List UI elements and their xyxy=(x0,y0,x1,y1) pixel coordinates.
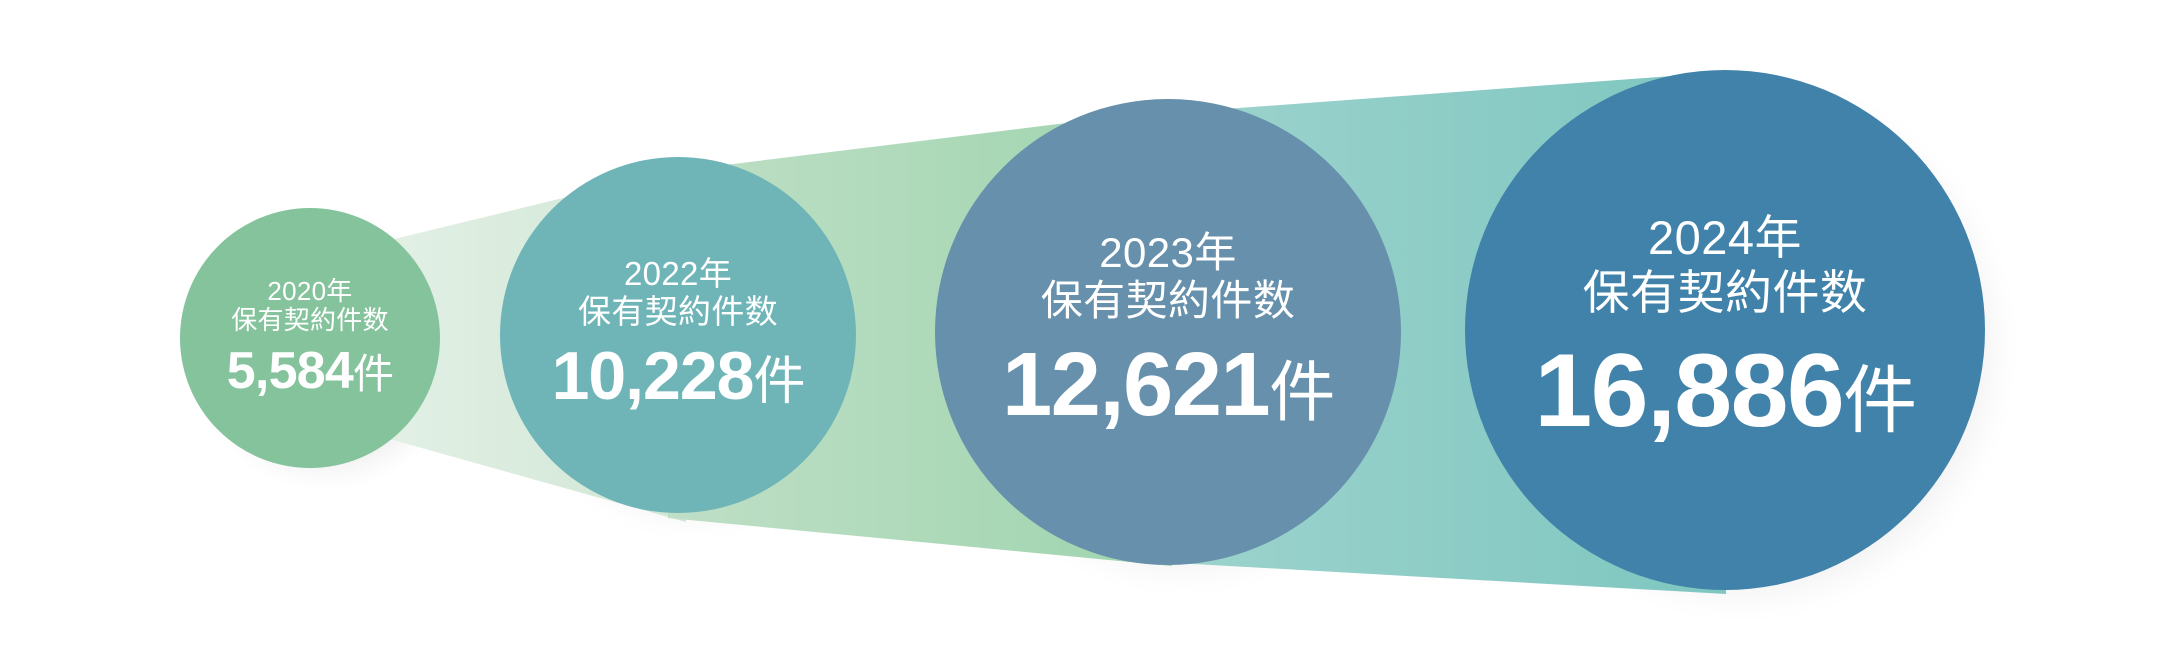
data-node-2024[interactable]: 2024年 保有契約件数 16,886件 xyxy=(1465,70,1985,590)
value-number-2024: 16,886 xyxy=(1534,333,1843,449)
year-label-2023: 2023年 xyxy=(1099,230,1237,275)
value-2020: 5,584件 xyxy=(227,343,393,399)
year-label-2020: 2020年 xyxy=(267,277,352,305)
year-label-2022: 2022年 xyxy=(624,256,732,292)
value-2024: 16,886件 xyxy=(1534,335,1915,447)
year-label-2024: 2024年 xyxy=(1648,213,1802,264)
metric-label-2024: 保有契約件数 xyxy=(1583,268,1868,319)
value-2023: 12,621件 xyxy=(1002,337,1334,434)
value-number-2023: 12,621 xyxy=(1002,335,1269,435)
metric-label-2020: 保有契約件数 xyxy=(231,306,389,334)
metric-label-2023: 保有契約件数 xyxy=(1041,278,1296,323)
value-unit-2020: 件 xyxy=(353,351,393,397)
growth-infographic: 2020年 保有契約件数 5,584件 2022年 保有契約件数 10,228件… xyxy=(0,0,2179,672)
value-unit-2023: 件 xyxy=(1269,355,1334,429)
value-2022: 10,228件 xyxy=(552,340,805,413)
data-node-2020[interactable]: 2020年 保有契約件数 5,584件 xyxy=(180,208,440,468)
data-node-2023[interactable]: 2023年 保有契約件数 12,621件 xyxy=(935,99,1401,565)
metric-label-2022: 保有契約件数 xyxy=(578,294,778,330)
data-node-2022[interactable]: 2022年 保有契約件数 10,228件 xyxy=(500,157,856,513)
value-number-2020: 5,584 xyxy=(227,342,353,400)
value-number-2022: 10,228 xyxy=(552,338,754,414)
value-unit-2022: 件 xyxy=(753,353,804,411)
value-unit-2024: 件 xyxy=(1843,359,1915,442)
